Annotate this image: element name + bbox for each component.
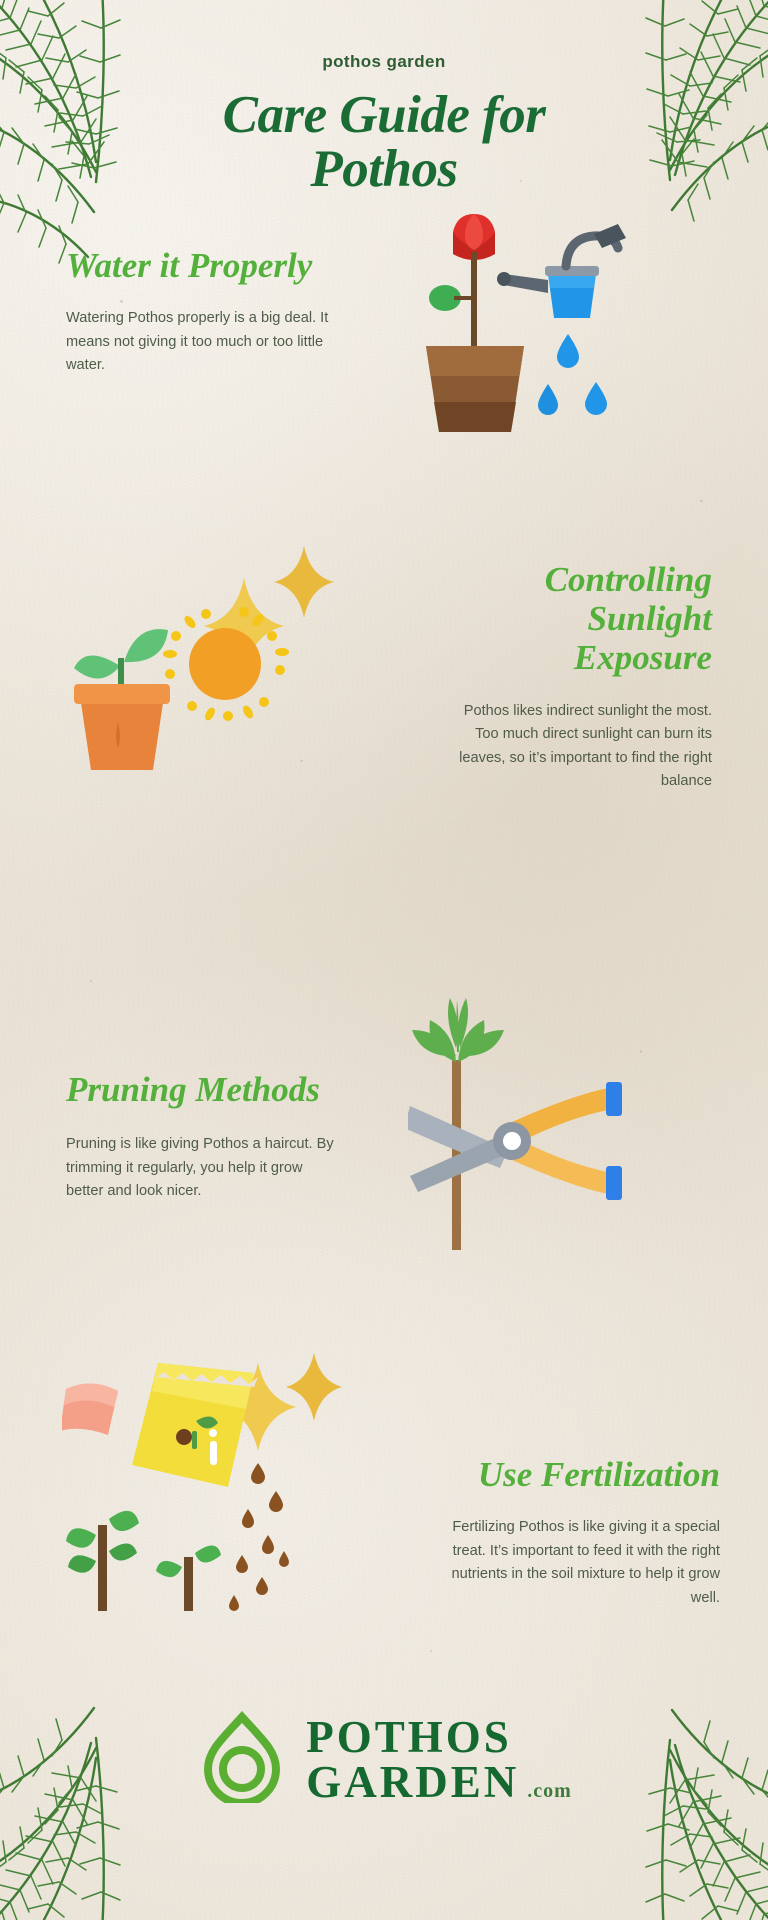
brand-kicker: pothos garden	[0, 52, 768, 72]
logo-dotcom-suffix: .com	[527, 1782, 572, 1802]
section-water-body: Watering Pothos properly is a big deal. …	[66, 307, 334, 378]
page-title-line1: Care Guide for	[223, 86, 546, 144]
section-pruning-body: Pruning is like giving Pothos a haircut.…	[66, 1133, 338, 1204]
page-title-line2: Pothos	[310, 140, 457, 198]
section-pruning-heading: Pruning Methods	[66, 1070, 338, 1109]
plant-pot-watering-can-illustration	[398, 206, 628, 461]
section-water-text-block: Water it Properly Watering Pothos proper…	[66, 246, 334, 378]
section-fertilization-body: Fertilizing Pothos is like giving it a s…	[430, 1516, 720, 1611]
section-controlling-sunlight-exposure: Controlling Sunlight Exposure Pothos lik…	[0, 560, 768, 880]
pruning-shears-illustration	[408, 990, 668, 1265]
section-sunlight-heading-line3: Exposure	[574, 638, 712, 677]
section-sunlight-heading-line1: Controlling	[545, 560, 712, 599]
page-title: Care Guide for Pothos	[0, 88, 768, 196]
logo-line-garden: GARDEN .com	[306, 1760, 572, 1804]
section-fertilization-heading: Use Fertilization	[430, 1455, 720, 1494]
infographic-poster: pothos garden Care Guide for Pothos Wate…	[0, 0, 768, 1920]
section-sunlight-heading: Controlling Sunlight Exposure	[440, 560, 712, 678]
section-sunlight-body: Pothos likes indirect sunlight the most.…	[440, 700, 712, 795]
footer-logo[interactable]: POTHOS GARDEN .com	[0, 1711, 768, 1808]
logo-wordmark: POTHOS GARDEN .com	[306, 1715, 572, 1803]
section-pruning-methods: Pruning Methods Pruning is like giving P…	[0, 1070, 768, 1350]
section-pruning-text-block: Pruning Methods Pruning is like giving P…	[66, 1070, 338, 1204]
pothos-garden-logo-icon	[196, 1711, 288, 1808]
poster-header: pothos garden Care Guide for Pothos	[0, 0, 768, 196]
fertilizer-pouring-illustration	[62, 1345, 352, 1640]
section-water-heading: Water it Properly	[66, 246, 334, 285]
section-sunlight-heading-line2: Sunlight	[587, 599, 712, 638]
sun-and-potted-seedling-illustration	[58, 540, 388, 805]
section-fertilization-text-block: Use Fertilization Fertilizing Pothos is …	[430, 1455, 720, 1611]
section-use-fertilization: Use Fertilization Fertilizing Pothos is …	[0, 1455, 768, 1755]
logo-garden-text: GARDEN	[306, 1760, 519, 1804]
logo-line-pothos: POTHOS	[306, 1715, 572, 1759]
section-sunlight-text-block: Controlling Sunlight Exposure Pothos lik…	[440, 560, 712, 794]
section-water-it-properly: Water it Properly Watering Pothos proper…	[0, 246, 768, 516]
